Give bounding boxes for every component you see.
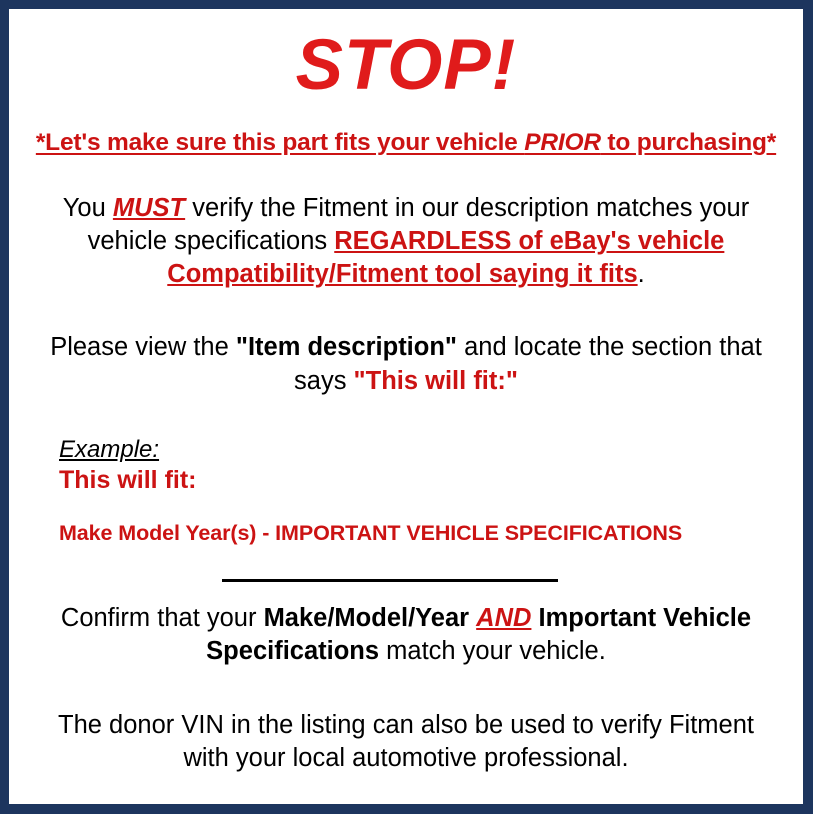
example-label: Example:: [59, 436, 803, 464]
confirm-paragraph: Confirm that your Make/Model/Year AND Im…: [43, 602, 769, 668]
subtitle-part2: to purchasing*: [601, 129, 776, 156]
example-fit-header: This will fit:: [59, 465, 803, 495]
fitment-notice-body: STOP! *Let's make sure this part fits yo…: [9, 9, 803, 804]
example-block: Example: This will fit: Make Model Year(…: [9, 436, 803, 548]
this-will-fit-label: "This will fit:": [354, 367, 518, 395]
confirm-seg2: match your vehicle.: [379, 637, 606, 665]
make-model-year-label: Make/Model/Year: [264, 604, 470, 632]
please-seg1: Please view the: [50, 333, 236, 361]
donor-vin-paragraph: The donor VIN in the listing can also be…: [43, 709, 769, 775]
and-emphasis: AND: [476, 604, 531, 632]
fitment-notice-frame: STOP! *Let's make sure this part fits yo…: [0, 0, 813, 814]
must-emphasis: MUST: [113, 194, 185, 222]
subtitle-banner: *Let's make sure this part fits your veh…: [9, 130, 803, 157]
subtitle-part1: *Let's make sure this part fits your veh…: [36, 129, 524, 156]
item-description-paragraph: Please view the "Item description" and l…: [43, 331, 769, 397]
must-seg3: .: [638, 260, 645, 288]
divider-rule: [222, 579, 558, 582]
must-seg1: You: [63, 194, 113, 222]
confirm-seg1: Confirm that your: [61, 604, 264, 632]
item-description-label: "Item description": [236, 333, 457, 361]
example-spec-line: Make Model Year(s) - IMPORTANT VEHICLE S…: [59, 521, 803, 547]
must-verify-paragraph: You MUST verify the Fitment in our descr…: [43, 192, 769, 291]
page-title: STOP!: [9, 30, 803, 101]
subtitle-emphasis-prior: PRIOR: [524, 129, 601, 156]
divider: [9, 574, 803, 588]
